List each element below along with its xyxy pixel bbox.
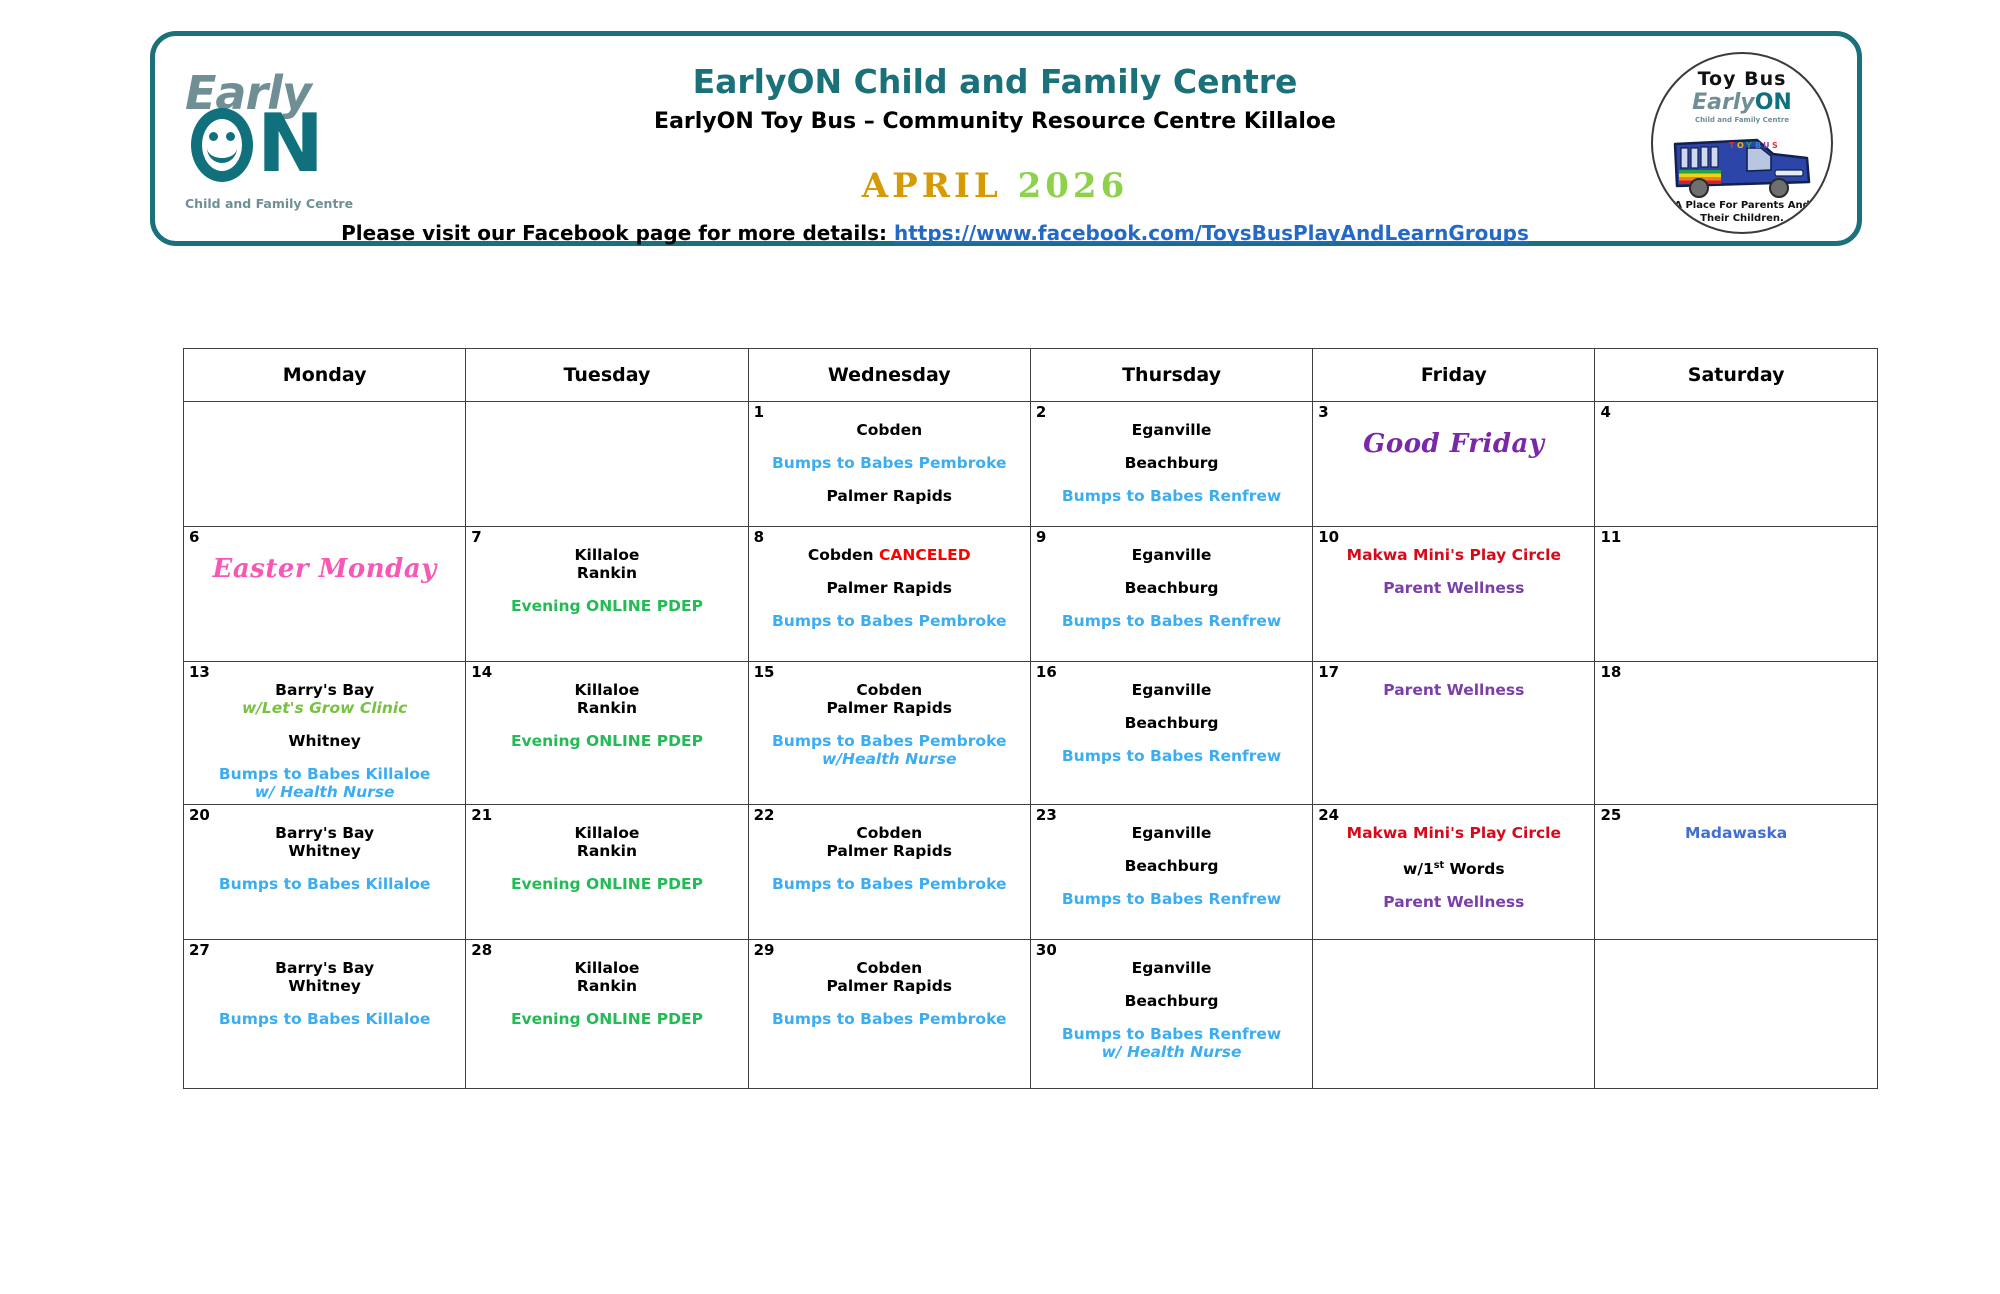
weekday-header-saturday: Saturday bbox=[1595, 349, 1877, 402]
day-number: 4 bbox=[1600, 404, 1610, 420]
calendar-day-cell-empty[interactable] bbox=[466, 402, 748, 527]
calendar-week-row: 20Barry's BayWhitneyBumps to Babes Killa… bbox=[184, 805, 1878, 940]
calendar-body: 1CobdenBumps to Babes PembrokePalmer Rap… bbox=[184, 402, 1878, 1089]
day-events bbox=[1313, 940, 1594, 959]
toybus-logo-bottom-line1: A Place For Parents And bbox=[1653, 200, 1831, 211]
event-label[interactable]: Palmer Rapids bbox=[749, 977, 1030, 995]
event-superscript: st bbox=[1434, 860, 1444, 871]
event-label[interactable]: w/Let's Grow Clinic bbox=[184, 699, 465, 717]
day-events bbox=[1595, 940, 1876, 959]
day-events: Easter Monday bbox=[184, 527, 465, 578]
event-label[interactable]: Beachburg bbox=[1031, 454, 1312, 472]
calendar-week-row: 27Barry's BayWhitneyBumps to Babes Killa… bbox=[184, 940, 1878, 1089]
event-label[interactable]: Rankin bbox=[466, 564, 747, 582]
calendar-day-cell-16[interactable]: 16EganvilleBeachburgBumps to Babes Renfr… bbox=[1030, 662, 1312, 805]
event-label[interactable]: Makwa Mini's Play Circle bbox=[1313, 546, 1594, 564]
day-number: 16 bbox=[1036, 664, 1057, 680]
event-label[interactable]: Bumps to Babes Renfrew bbox=[1031, 890, 1312, 908]
event-label[interactable]: Killaloe bbox=[466, 681, 747, 699]
calendar-day-cell-2[interactable]: 2EganvilleBeachburgBumps to Babes Renfre… bbox=[1030, 402, 1312, 527]
calendar-day-cell-17[interactable]: 17Parent Wellness bbox=[1313, 662, 1595, 805]
weekday-header-wednesday: Wednesday bbox=[748, 349, 1030, 402]
facebook-line: Please visit our Facebook page for more … bbox=[340, 221, 1530, 245]
day-events: Barry's BayWhitneyBumps to Babes Killalo… bbox=[184, 940, 465, 1028]
calendar-day-cell-13[interactable]: 13Barry's Bayw/Let's Grow ClinicWhitneyB… bbox=[184, 662, 466, 805]
calendar-table: Monday Tuesday Wednesday Thursday Friday… bbox=[183, 348, 1878, 1089]
day-events: CobdenBumps to Babes PembrokePalmer Rapi… bbox=[749, 402, 1030, 505]
calendar-day-cell-empty[interactable] bbox=[1313, 940, 1595, 1089]
event-label[interactable]: Palmer Rapids bbox=[749, 699, 1030, 717]
toybus-logo-brand: EarlyON bbox=[1653, 90, 1831, 115]
svg-text:O: O bbox=[1737, 141, 1744, 150]
day-events: Good Friday bbox=[1313, 402, 1594, 453]
event-label[interactable]: Bumps to Babes Pembroke bbox=[749, 875, 1030, 893]
day-events bbox=[466, 402, 747, 421]
day-events: EganvilleBeachburgBumps to Babes Renfrew bbox=[1031, 527, 1312, 630]
svg-text:B: B bbox=[1755, 141, 1761, 150]
month-year: 2026 bbox=[1018, 166, 1129, 206]
calendar-day-cell-23[interactable]: 23EganvilleBeachburgBumps to Babes Renfr… bbox=[1030, 805, 1312, 940]
calendar-day-cell-25[interactable]: 25Madawaska bbox=[1595, 805, 1877, 940]
event-label[interactable]: Parent Wellness bbox=[1313, 579, 1594, 597]
centre-subtitle: EarlyON Toy Bus – Community Resource Cen… bbox=[455, 109, 1535, 134]
weekday-header-monday: Monday bbox=[184, 349, 466, 402]
day-events: CobdenPalmer RapidsBumps to Babes Pembro… bbox=[749, 662, 1030, 768]
earlyon-logo-right-eye-icon bbox=[226, 132, 235, 141]
day-events: Madawaska bbox=[1595, 805, 1876, 842]
day-number: 15 bbox=[754, 664, 775, 680]
holiday-label: Good Friday bbox=[1313, 435, 1594, 453]
event-label[interactable]: Rankin bbox=[466, 977, 747, 995]
calendar-day-cell-6[interactable]: 6Easter Monday bbox=[184, 527, 466, 662]
event-label[interactable]: Beachburg bbox=[1031, 579, 1312, 597]
day-number: 3 bbox=[1318, 404, 1328, 420]
day-events: Makwa Mini's Play CircleParent Wellness bbox=[1313, 527, 1594, 597]
event-label[interactable]: Whitney bbox=[184, 842, 465, 860]
day-number: 28 bbox=[471, 942, 492, 958]
earlyon-logo-tagline: Child and Family Centre bbox=[185, 196, 353, 211]
earlyon-logo: Early N Child and Family Centre bbox=[183, 64, 358, 224]
day-number: 14 bbox=[471, 664, 492, 680]
toybus-logo-title: Toy Bus bbox=[1653, 68, 1831, 90]
day-events: Parent Wellness bbox=[1313, 662, 1594, 699]
toybus-logo-brand-early: Early bbox=[1692, 90, 1755, 115]
calendar-day-cell-30[interactable]: 30EganvilleBeachburgBumps to Babes Renfr… bbox=[1030, 940, 1312, 1089]
day-events: Cobden CANCELEDPalmer RapidsBumps to Bab… bbox=[749, 527, 1030, 630]
event-label[interactable]: Bumps to Babes Pembroke bbox=[749, 1010, 1030, 1028]
day-events: EganvilleBeachburgBumps to Babes Renfrew bbox=[1031, 662, 1312, 765]
event-label[interactable]: w/ Health Nurse bbox=[184, 783, 465, 801]
calendar-day-cell-20[interactable]: 20Barry's BayWhitneyBumps to Babes Killa… bbox=[184, 805, 466, 940]
day-number: 25 bbox=[1600, 807, 1621, 823]
event-label[interactable]: Bumps to Babes Renfrew bbox=[1031, 612, 1312, 630]
day-number: 2 bbox=[1036, 404, 1046, 420]
calendar-day-cell-1[interactable]: 1CobdenBumps to Babes PembrokePalmer Rap… bbox=[748, 402, 1030, 527]
toybus-logo-bottom-line2: Their Children. bbox=[1653, 213, 1831, 224]
day-number: 6 bbox=[189, 529, 199, 545]
event-label[interactable]: Bumps to Babes Pembroke bbox=[749, 732, 1030, 750]
event-label[interactable]: Palmer Rapids bbox=[749, 487, 1030, 505]
day-number: 9 bbox=[1036, 529, 1046, 545]
event-label[interactable]: Killaloe bbox=[466, 546, 747, 564]
calendar-day-cell-14[interactable]: 14KillaloeRankinEvening ONLINE PDEP bbox=[466, 662, 748, 805]
event-label[interactable]: Bumps to Babes Renfrew bbox=[1031, 1025, 1312, 1043]
event-label[interactable]: Barry's Bay bbox=[184, 824, 465, 842]
earlyon-logo-left-eye-icon bbox=[209, 132, 218, 141]
calendar-day-cell-21[interactable]: 21KillaloeRankinEvening ONLINE PDEP bbox=[466, 805, 748, 940]
day-events: EganvilleBeachburgBumps to Babes Renfrew bbox=[1031, 402, 1312, 505]
event-label[interactable]: w/ Health Nurse bbox=[1031, 1043, 1312, 1061]
svg-text:S: S bbox=[1772, 141, 1778, 150]
event-label[interactable]: Eganville bbox=[1031, 421, 1312, 439]
toybus-logo-brand-on: ON bbox=[1755, 90, 1792, 115]
event-label[interactable]: Evening ONLINE PDEP bbox=[466, 597, 747, 615]
calendar-day-cell-24[interactable]: 24Makwa Mini's Play Circlew/1st WordsPar… bbox=[1313, 805, 1595, 940]
svg-text:T: T bbox=[1729, 141, 1735, 150]
event-label[interactable]: Killaloe bbox=[466, 824, 747, 842]
event-label[interactable]: Barry's Bay bbox=[184, 959, 465, 977]
calendar-day-cell-empty[interactable] bbox=[1595, 940, 1877, 1089]
calendar-day-cell-18[interactable]: 18 bbox=[1595, 662, 1877, 805]
calendar-day-cell-3[interactable]: 3Good Friday bbox=[1313, 402, 1595, 527]
day-events bbox=[184, 402, 465, 421]
facebook-link[interactable]: https://www.facebook.com/ToysBusPlayAndL… bbox=[894, 221, 1529, 245]
toybus-logo-tagline: Child and Family Centre bbox=[1653, 116, 1831, 124]
event-label[interactable]: Parent Wellness bbox=[1313, 893, 1594, 911]
event-label[interactable]: w/Health Nurse bbox=[749, 750, 1030, 768]
calendar-week-row: 6Easter Monday7KillaloeRankinEvening ONL… bbox=[184, 527, 1878, 662]
event-label[interactable]: Cobden bbox=[749, 681, 1030, 699]
day-number: 29 bbox=[754, 942, 775, 958]
event-label[interactable]: Cobden bbox=[749, 824, 1030, 842]
event-label[interactable]: Bumps to Babes Killaloe bbox=[184, 875, 465, 893]
event-label[interactable]: Barry's Bay bbox=[184, 681, 465, 699]
day-number: 30 bbox=[1036, 942, 1057, 958]
event-label[interactable]: Bumps to Babes Pembroke bbox=[749, 454, 1030, 472]
event-label[interactable]: Cobden bbox=[749, 421, 1030, 439]
event-label[interactable]: Makwa Mini's Play Circle bbox=[1313, 824, 1594, 842]
event-label[interactable]: Whitney bbox=[184, 977, 465, 995]
day-number: 17 bbox=[1318, 664, 1339, 680]
event-label[interactable]: Evening ONLINE PDEP bbox=[466, 732, 747, 750]
event-label[interactable]: Cobden bbox=[749, 959, 1030, 977]
event-label[interactable]: Rankin bbox=[466, 699, 747, 717]
day-events: Barry's BayWhitneyBumps to Babes Killalo… bbox=[184, 805, 465, 893]
day-events: EganvilleBeachburgBumps to Babes Renfrew bbox=[1031, 805, 1312, 908]
day-events: KillaloeRankinEvening ONLINE PDEP bbox=[466, 805, 747, 893]
day-events: Makwa Mini's Play Circlew/1st WordsParen… bbox=[1313, 805, 1594, 911]
day-number: 11 bbox=[1600, 529, 1621, 545]
event-status-badge: CANCELED bbox=[874, 546, 971, 564]
event-label[interactable]: Eganville bbox=[1031, 824, 1312, 842]
event-label[interactable]: Bumps to Babes Renfrew bbox=[1031, 487, 1312, 505]
event-label[interactable]: Eganville bbox=[1031, 546, 1312, 564]
svg-text:Y: Y bbox=[1745, 141, 1752, 150]
toy-bus-icon: T O Y B U S bbox=[1669, 128, 1815, 200]
calendar-day-cell-27[interactable]: 27Barry's BayWhitneyBumps to Babes Killa… bbox=[184, 940, 466, 1089]
day-number: 18 bbox=[1600, 664, 1621, 680]
calendar-header-row: Monday Tuesday Wednesday Thursday Friday… bbox=[184, 349, 1878, 402]
calendar-day-cell-11[interactable]: 11 bbox=[1595, 527, 1877, 662]
centre-title: EarlyON Child and Family Centre bbox=[455, 62, 1535, 101]
header-banner: Early N Child and Family Centre EarlyON … bbox=[150, 31, 1862, 246]
month-name: APRIL bbox=[862, 166, 1002, 206]
day-events: CobdenPalmer RapidsBumps to Babes Pembro… bbox=[749, 940, 1030, 1028]
event-label[interactable]: Rankin bbox=[466, 842, 747, 860]
calendar-day-cell-7[interactable]: 7KillaloeRankinEvening ONLINE PDEP bbox=[466, 527, 748, 662]
event-label[interactable]: Eganville bbox=[1031, 681, 1312, 699]
event-label[interactable]: Eganville bbox=[1031, 959, 1312, 977]
calendar-day-cell-10[interactable]: 10Makwa Mini's Play CircleParent Wellnes… bbox=[1313, 527, 1595, 662]
event-label[interactable]: Palmer Rapids bbox=[749, 579, 1030, 597]
day-number: 1 bbox=[754, 404, 764, 420]
event-label[interactable]: Bumps to Babes Renfrew bbox=[1031, 747, 1312, 765]
calendar-day-cell-22[interactable]: 22CobdenPalmer RapidsBumps to Babes Pemb… bbox=[748, 805, 1030, 940]
day-number: 8 bbox=[754, 529, 764, 545]
day-number: 23 bbox=[1036, 807, 1057, 823]
day-number: 20 bbox=[189, 807, 210, 823]
event-label[interactable]: w/1st Words bbox=[1313, 857, 1594, 878]
calendar-day-cell-9[interactable]: 9EganvilleBeachburgBumps to Babes Renfre… bbox=[1030, 527, 1312, 662]
day-number: 10 bbox=[1318, 529, 1339, 545]
day-number: 21 bbox=[471, 807, 492, 823]
event-label[interactable]: Madawaska bbox=[1595, 824, 1876, 842]
day-events: KillaloeRankinEvening ONLINE PDEP bbox=[466, 940, 747, 1028]
event-label[interactable]: Bumps to Babes Killaloe bbox=[184, 1010, 465, 1028]
event-label[interactable]: Evening ONLINE PDEP bbox=[466, 1010, 747, 1028]
day-events bbox=[1595, 402, 1876, 421]
day-number: 7 bbox=[471, 529, 481, 545]
earlyon-logo-n-letter: N bbox=[257, 104, 324, 184]
event-label[interactable]: Killaloe bbox=[466, 959, 747, 977]
calendar-day-cell-29[interactable]: 29CobdenPalmer RapidsBumps to Babes Pemb… bbox=[748, 940, 1030, 1089]
day-events: KillaloeRankinEvening ONLINE PDEP bbox=[466, 662, 747, 750]
event-label[interactable]: Bumps to Babes Pembroke bbox=[749, 612, 1030, 630]
day-events bbox=[1595, 527, 1876, 546]
calendar-week-row: 13Barry's Bayw/Let's Grow ClinicWhitneyB… bbox=[184, 662, 1878, 805]
event-label[interactable]: Whitney bbox=[184, 732, 465, 750]
event-label[interactable]: Parent Wellness bbox=[1313, 681, 1594, 699]
event-label[interactable]: Beachburg bbox=[1031, 857, 1312, 875]
svg-text:U: U bbox=[1763, 141, 1770, 150]
day-events: CobdenPalmer RapidsBumps to Babes Pembro… bbox=[749, 805, 1030, 893]
holiday-label: Easter Monday bbox=[184, 560, 465, 578]
event-label[interactable]: Cobden CANCELED bbox=[749, 546, 1030, 564]
calendar-day-cell-8[interactable]: 8Cobden CANCELEDPalmer RapidsBumps to Ba… bbox=[748, 527, 1030, 662]
event-label[interactable]: Beachburg bbox=[1031, 714, 1312, 732]
day-number: 27 bbox=[189, 942, 210, 958]
day-events bbox=[1595, 662, 1876, 681]
day-events: EganvilleBeachburgBumps to Babes Renfrew… bbox=[1031, 940, 1312, 1061]
day-number: 13 bbox=[189, 664, 210, 680]
weekday-header-tuesday: Tuesday bbox=[466, 349, 748, 402]
day-events: Barry's Bayw/Let's Grow ClinicWhitneyBum… bbox=[184, 662, 465, 801]
event-label[interactable]: Beachburg bbox=[1031, 992, 1312, 1010]
calendar-day-cell-4[interactable]: 4 bbox=[1595, 402, 1877, 527]
calendar-day-cell-15[interactable]: 15CobdenPalmer RapidsBumps to Babes Pemb… bbox=[748, 662, 1030, 805]
month-title: APRIL 2026 bbox=[455, 166, 1535, 206]
day-number: 24 bbox=[1318, 807, 1339, 823]
toybus-logo: Toy Bus EarlyON Child and Family Centre … bbox=[1651, 52, 1833, 234]
day-number: 22 bbox=[754, 807, 775, 823]
event-label[interactable]: Palmer Rapids bbox=[749, 842, 1030, 860]
calendar-week-row: 1CobdenBumps to Babes PembrokePalmer Rap… bbox=[184, 402, 1878, 527]
day-events: KillaloeRankinEvening ONLINE PDEP bbox=[466, 527, 747, 615]
earlyon-logo-on-mark: N bbox=[191, 108, 351, 186]
event-label[interactable]: Bumps to Babes Killaloe bbox=[184, 765, 465, 783]
weekday-header-friday: Friday bbox=[1313, 349, 1595, 402]
event-label[interactable]: Evening ONLINE PDEP bbox=[466, 875, 747, 893]
calendar-day-cell-empty[interactable] bbox=[184, 402, 466, 527]
calendar-day-cell-28[interactable]: 28KillaloeRankinEvening ONLINE PDEP bbox=[466, 940, 748, 1089]
facebook-prompt-text: Please visit our Facebook page for more … bbox=[341, 221, 887, 245]
weekday-header-thursday: Thursday bbox=[1030, 349, 1312, 402]
